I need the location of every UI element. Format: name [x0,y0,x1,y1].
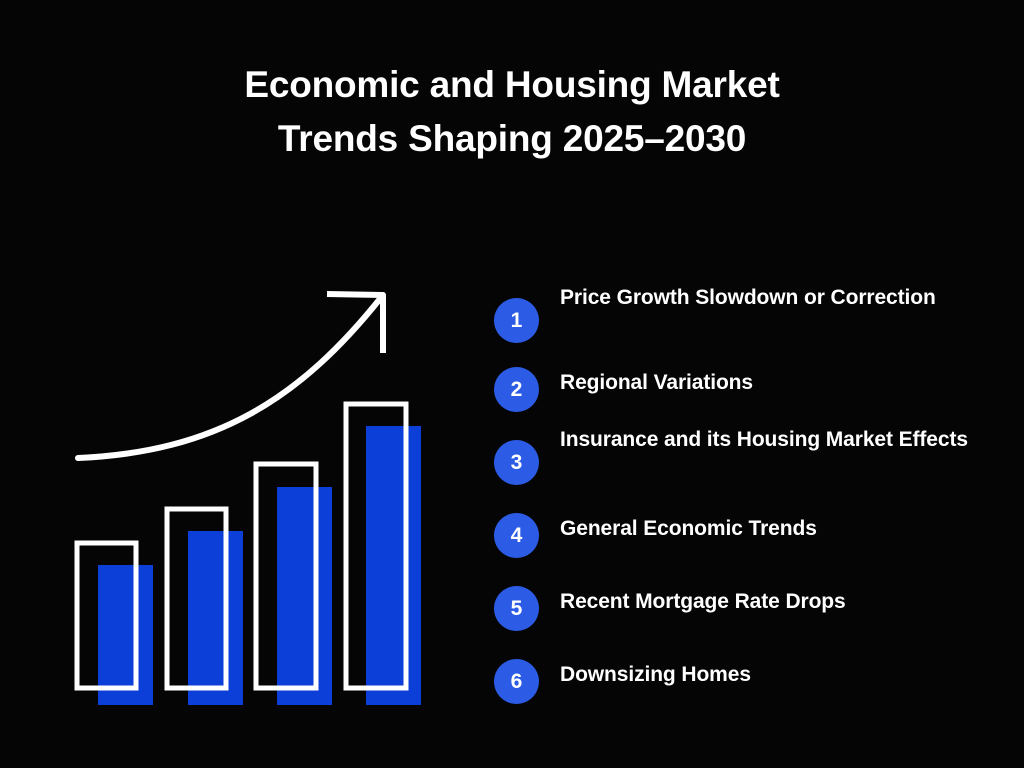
list-item-number-badge: 1 [494,298,539,343]
list-item-label: Downsizing Homes [560,659,994,690]
list-item[interactable]: 3 Insurance and its Housing Market Effec… [494,424,994,485]
list-item-label: General Economic Trends [560,513,994,544]
bar-fill-1 [98,565,153,705]
list-item[interactable]: 4 General Economic Trends [494,513,994,558]
bar-fill-3 [277,487,332,705]
list-item-label: Recent Mortgage Rate Drops [560,586,994,617]
list-item-number-badge: 6 [494,659,539,704]
chart-svg [0,0,470,768]
list-item-number-badge: 3 [494,440,539,485]
bar-fill-2 [188,531,243,705]
bar-fill-4 [366,426,421,705]
list-item-number-badge: 5 [494,586,539,631]
growth-arrow-icon [78,294,383,458]
list-item-number-badge: 2 [494,367,539,412]
list-item-label: Regional Variations [560,367,994,398]
list-item[interactable]: 6 Downsizing Homes [494,659,994,704]
chart-bars-fill [98,426,421,705]
list-item-number-badge: 4 [494,513,539,558]
list-item-label: Insurance and its Housing Market Effects [560,424,994,455]
growth-bar-chart-illustration [0,0,470,768]
list-item[interactable]: 5 Recent Mortgage Rate Drops [494,586,994,631]
list-item[interactable]: 2 Regional Variations [494,367,994,412]
list-item[interactable]: 1 Price Growth Slowdown or Correction [494,282,994,343]
list-item-label: Price Growth Slowdown or Correction [560,282,994,313]
